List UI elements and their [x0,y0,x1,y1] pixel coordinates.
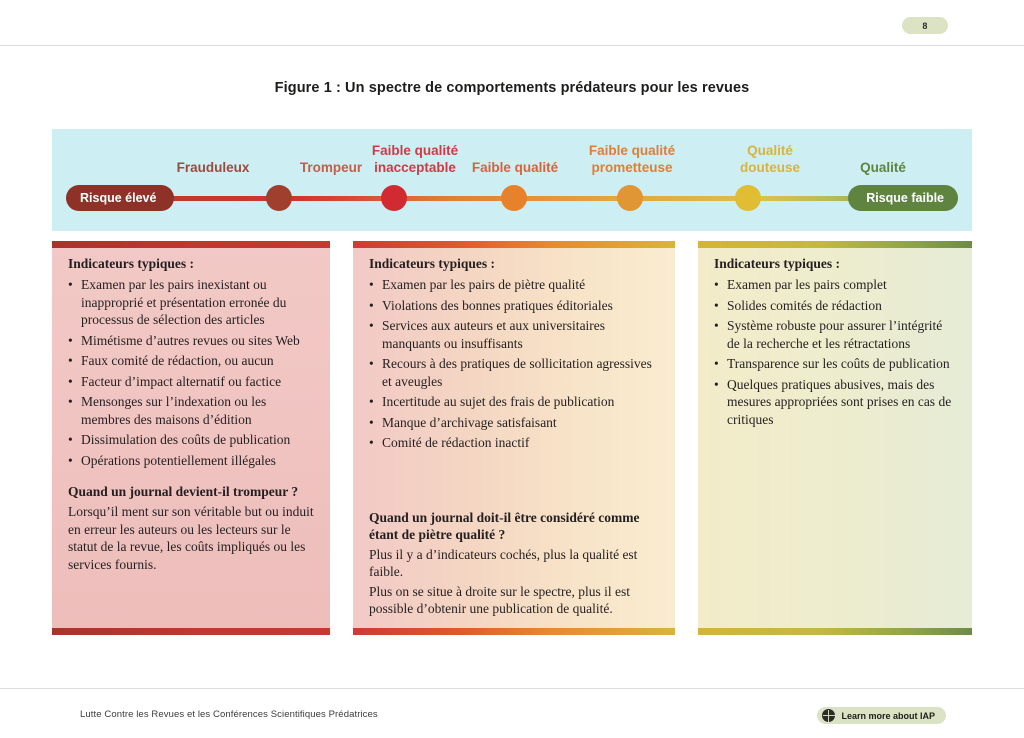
list-item: Manque d’archivage satisfaisant [369,414,659,432]
panel-indicator-list: Examen par les pairs complet Solides com… [714,276,956,428]
footer-title: Lutte Contre les Revues et les Conférenc… [80,709,378,720]
panel-indicator-list: Examen par les pairs inexistant ou inapp… [68,276,314,469]
label-line-1: Faible qualité [549,142,715,159]
panel-answer-paragraph: Plus on se situe à droite sur le spectre… [369,583,659,618]
spectrum-dot-qualite-douteuse[interactable] [735,185,761,211]
panel-question-heading: Quand un journal devient-il trompeur ? [68,483,314,500]
risk-high-pill: Risque élevé [66,185,174,211]
panel-poor-quality: Indicateurs typiques : Examen par les pa… [353,241,675,635]
spectrum-dot-faible-qualite[interactable] [501,185,527,211]
globe-icon [822,709,835,722]
label-line-2: prometteuse [549,159,715,176]
list-item: Faux comité de rédaction, ou aucun [68,352,314,370]
list-item: Examen par les pairs complet [714,276,956,294]
panel-indicator-list: Examen par les pairs de piètre qualité V… [369,276,659,452]
list-item: Examen par les pairs inexistant ou inapp… [68,276,314,329]
list-item: Opérations potentiellement illégales [68,452,314,470]
list-item: Système robuste pour assurer l’intégrité… [714,317,956,352]
label-line-1: Faible qualité [335,142,495,159]
list-item: Mimétisme d’autres revues ou sites Web [68,332,314,350]
list-item: Quelques pratiques abusives, mais des me… [714,376,956,429]
panel-spacer [369,455,659,495]
list-item: Violations des bonnes pratiques éditoria… [369,297,659,315]
list-item: Facteur d’impact alternatif ou factice [68,373,314,391]
list-item: Incertitude au sujet des frais de public… [369,393,659,411]
spectrum-dot-faible-qualite-inacceptable[interactable] [381,185,407,211]
spectrum-dot-trompeur[interactable] [266,185,292,211]
spectrum-label-faible-qualite-prometteuse: Faible qualité prometteuse [549,142,715,176]
list-item: Transparence sur les coûts de publicatio… [714,355,956,373]
panel-question-heading: Quand un journal doit-il être considéré … [369,509,659,543]
panel-indicators-heading: Indicateurs typiques : [714,255,956,272]
footer-divider [0,688,1024,689]
learn-more-iap-label: Learn more about IAP [841,711,935,721]
learn-more-iap-button[interactable]: Learn more about IAP [817,707,946,724]
panel-answer-paragraph: Lorsqu’il ment sur son véritable but ou … [68,503,314,573]
list-item: Services aux auteurs et aux universitair… [369,317,659,352]
indicator-panels: Indicateurs typiques : Examen par les pa… [52,241,972,635]
list-item: Mensonges sur l’indexation ou les membre… [68,393,314,428]
figure-title: Figure 1 : Un spectre de comportements p… [0,80,1024,96]
page-number-badge: 8 [902,17,948,34]
list-item: Examen par les pairs de piètre qualité [369,276,659,294]
list-item: Solides comités de rédaction [714,297,956,315]
label-line-1: Qualité [700,142,840,159]
panel-indicators-heading: Indicateurs typiques : [68,255,314,272]
list-item: Dissimulation des coûts de publication [68,431,314,449]
spectrum-dot-faible-qualite-prometteuse[interactable] [617,185,643,211]
risk-low-pill: Risque faible [848,185,958,211]
header-divider [0,45,1024,46]
panel-indicators-heading: Indicateurs typiques : [369,255,659,272]
panel-fraudulent: Indicateurs typiques : Examen par les pa… [52,241,330,635]
list-item: Recours à des pratiques de sollicitation… [369,355,659,390]
list-item: Comité de rédaction inactif [369,434,659,452]
panel-quality: Indicateurs typiques : Examen par les pa… [698,241,972,635]
panel-answer-paragraph: Plus il y a d’indicateurs cochés, plus l… [369,546,659,581]
document-page: 8 Figure 1 : Un spectre de comportements… [0,0,1024,738]
spectrum-label-qualite: Qualité [803,159,963,176]
spectrum-band: Frauduleux Trompeur Faible qualité inacc… [52,129,972,231]
